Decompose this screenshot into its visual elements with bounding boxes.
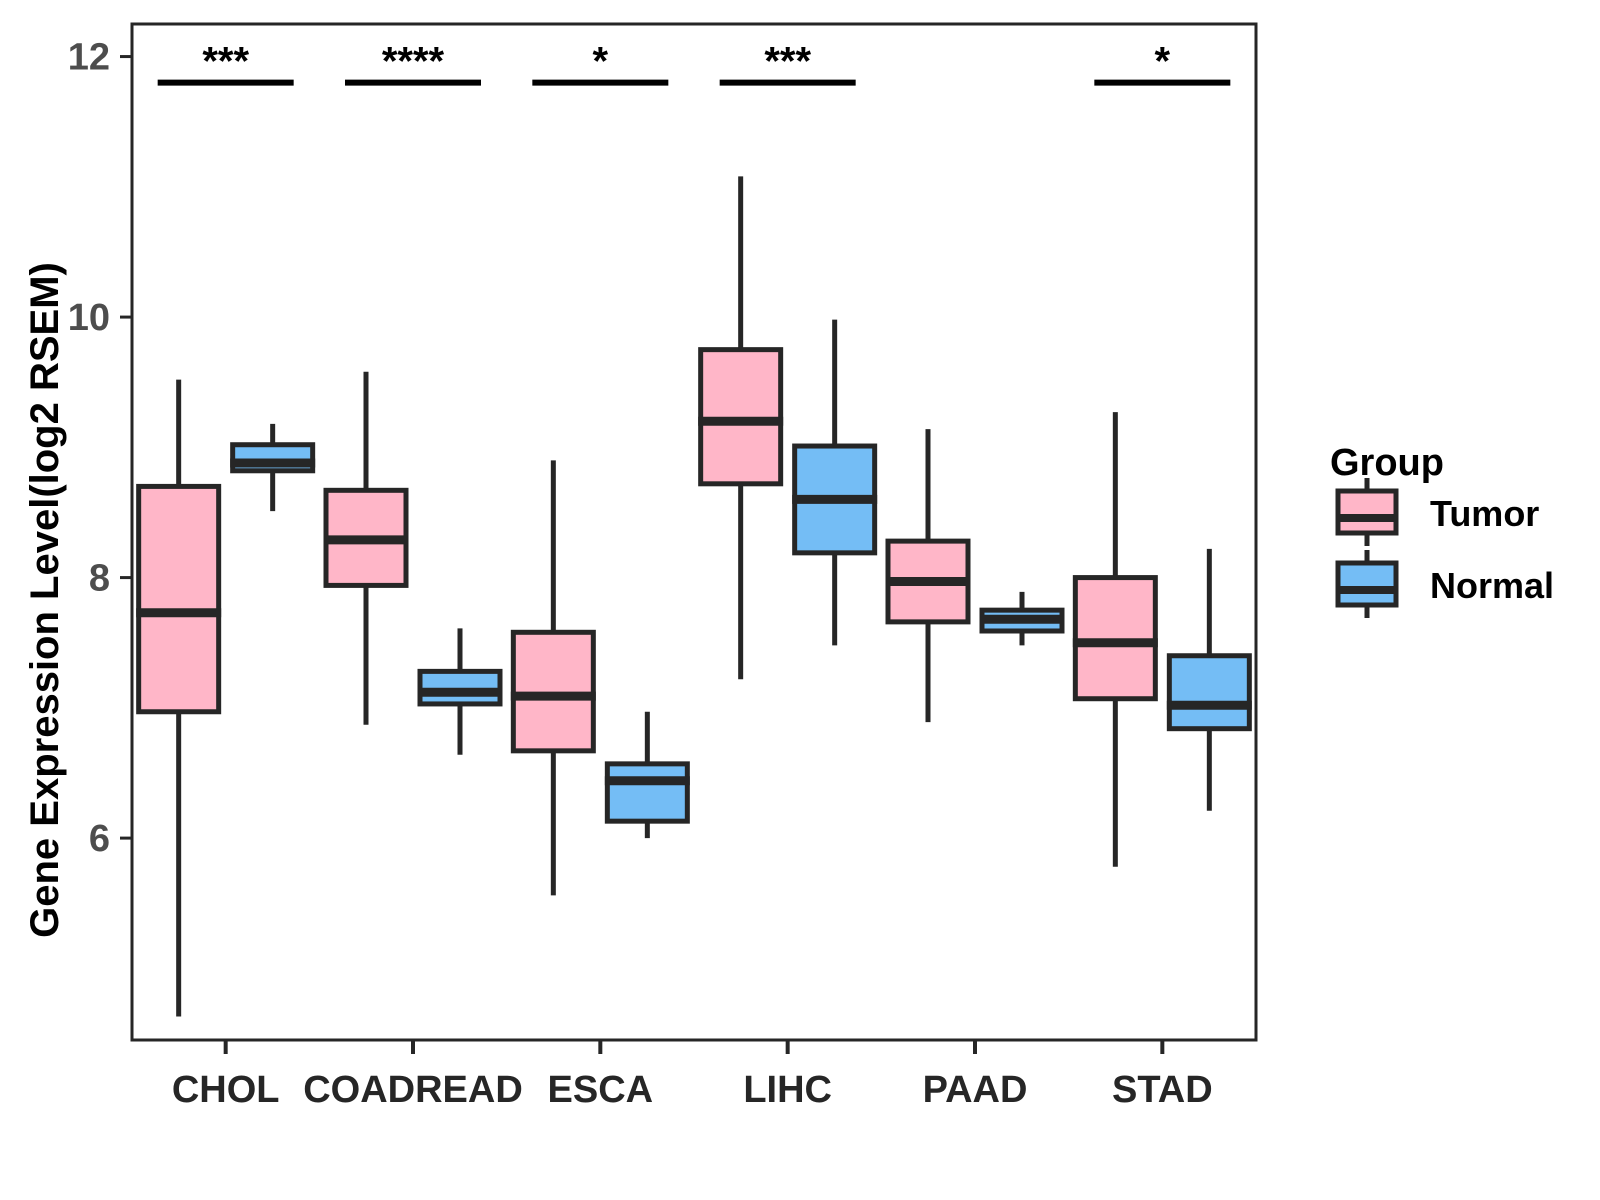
box-rect — [607, 764, 687, 821]
significance-label: **** — [382, 40, 445, 84]
significance-label: *** — [202, 40, 249, 84]
box-rect — [139, 486, 219, 711]
box-rect — [701, 350, 781, 484]
legend-title: Group — [1330, 442, 1444, 484]
box-rect — [420, 671, 500, 704]
significance-label: * — [593, 40, 609, 84]
x-tick-label-lihc: LIHC — [743, 1069, 832, 1111]
legend-key-box — [1338, 563, 1396, 605]
chart-figure: Gene Expression Level(log2 RSEM) 681012 … — [0, 0, 1600, 1200]
y-tick-label: 12 — [68, 37, 110, 79]
y-tick-label: 10 — [68, 297, 110, 339]
legend-label-normal: Normal — [1430, 565, 1554, 606]
x-tick-label-chol: CHOL — [172, 1069, 280, 1111]
box-rect — [513, 632, 593, 751]
box-rect — [1075, 578, 1155, 699]
x-tick-label-stad: STAD — [1112, 1069, 1213, 1111]
legend-label-tumor: Tumor — [1430, 493, 1539, 534]
y-tick-label: 8 — [89, 558, 110, 600]
significance-label: *** — [764, 40, 811, 84]
boxplot-svg: Gene Expression Level(log2 RSEM) 681012 … — [0, 0, 1600, 1200]
x-tick-label-paad: PAAD — [923, 1069, 1028, 1111]
x-tick-label-coadread: COADREAD — [303, 1069, 523, 1111]
box-rect — [1169, 656, 1249, 729]
y-axis-title: Gene Expression Level(log2 RSEM) — [23, 262, 67, 938]
significance-label: * — [1155, 40, 1171, 84]
x-tick-label-esca: ESCA — [548, 1069, 654, 1111]
y-tick-label: 6 — [89, 818, 110, 860]
legend-key-box — [1338, 491, 1396, 533]
